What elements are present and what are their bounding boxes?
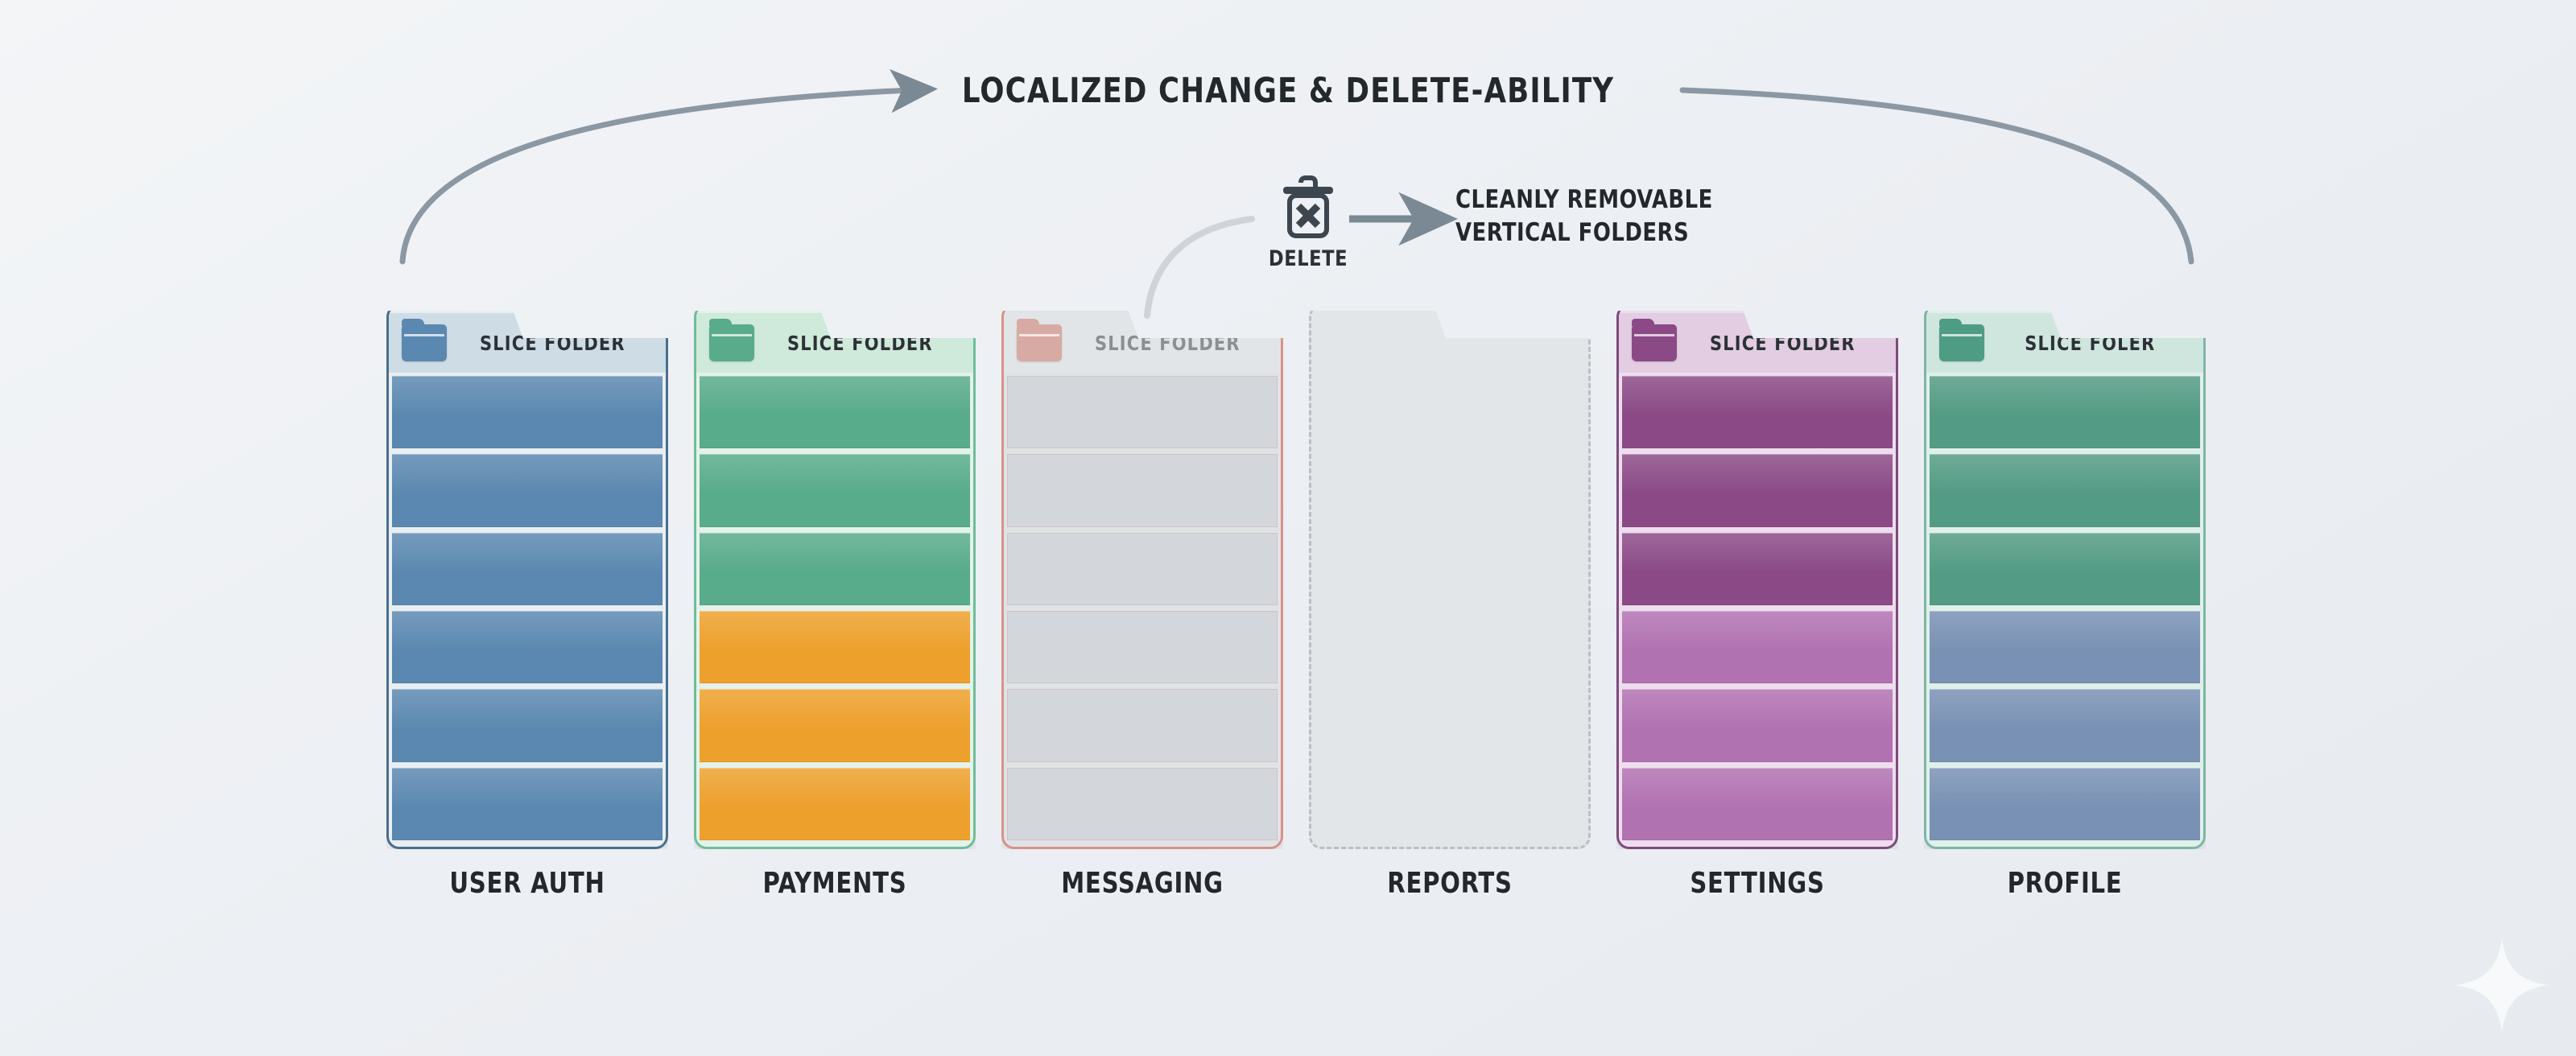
slice-folder-label: SLICE FOLDER [1685, 332, 1889, 355]
slice-row[interactable] [1622, 376, 1893, 448]
annotation-line-1: CLEANLY REMOVABLE [1455, 184, 1713, 217]
slice-row[interactable] [392, 454, 663, 526]
slice-folder-label: SLICE FOLER [1992, 332, 2196, 355]
slice-row[interactable] [392, 611, 663, 683]
slice-row[interactable] [1930, 768, 2200, 840]
slice-folder[interactable]: SLICE FOLDER [694, 304, 976, 849]
folder-icon [402, 324, 447, 361]
column-caption: PAYMENTS [708, 867, 962, 900]
right-arc [1682, 90, 2191, 262]
slice-row[interactable] [1007, 454, 1278, 526]
slice-row[interactable] [1622, 689, 1893, 761]
trash-x-icon[interactable] [1279, 174, 1337, 240]
folder-columns: SLICE FOLDERUSER AUTHSLICE FOLDERPAYMENT… [386, 304, 2206, 900]
slice-row[interactable] [1007, 768, 1278, 840]
folder-tab-header: SLICE FOLDER [696, 313, 973, 373]
delete-group[interactable]: DELETE [1252, 174, 1364, 271]
slice-row[interactable] [392, 689, 663, 761]
removable-annotation: CLEANLY REMOVABLE VERTICAL FOLDERS [1455, 184, 1713, 250]
folder-icon [1632, 324, 1677, 361]
empty-folder-placeholder[interactable] [1309, 304, 1591, 849]
slice-row[interactable] [700, 689, 970, 761]
slice-row[interactable] [1930, 533, 2200, 605]
slice-row[interactable] [1622, 454, 1893, 526]
diagram-canvas: LOCALIZED CHANGE & DELETE-ABILITY DELETE… [0, 0, 2576, 1056]
sparkle-icon [2449, 932, 2555, 1038]
folder-icon [1939, 324, 1984, 361]
folder-tab-header: SLICE FOLDER [1004, 313, 1281, 373]
slice-stack [1619, 373, 1896, 847]
slice-stack [1926, 373, 2203, 847]
slice-folder-label: SLICE FOLDER [455, 332, 658, 355]
slice-folder-label: SLICE FOLDER [762, 332, 966, 355]
slice-row[interactable] [1930, 454, 2200, 526]
slice-stack [696, 373, 973, 847]
slice-folder[interactable]: SLICE FOLDER [1616, 304, 1898, 849]
slice-row[interactable] [392, 376, 663, 448]
folder-icon [1017, 324, 1062, 361]
column-caption: SETTINGS [1631, 867, 1885, 900]
slice-row[interactable] [1930, 611, 2200, 683]
slice-row[interactable] [700, 454, 970, 526]
slice-row[interactable] [700, 611, 970, 683]
slice-row[interactable] [392, 768, 663, 840]
annotation-line-2: VERTICAL FOLDERS [1455, 217, 1713, 250]
slice-row[interactable] [700, 376, 970, 448]
column-caption: PROFILE [1938, 867, 2192, 900]
folder-tab-header: SLICE FOLDER [1619, 313, 1896, 373]
column-caption: USER AUTH [401, 867, 654, 900]
slice-row[interactable] [1622, 533, 1893, 605]
slice-row[interactable] [1007, 689, 1278, 761]
slice-row[interactable] [700, 768, 970, 840]
slice-stack [1004, 373, 1281, 847]
left-arc-arrow [402, 90, 910, 262]
slice-row[interactable] [1007, 376, 1278, 448]
slice-row[interactable] [1930, 376, 2200, 448]
slice-row[interactable] [1622, 768, 1893, 840]
column-caption: MESSAGING [1016, 867, 1269, 900]
folder-column-messaging[interactable]: SLICE FOLDERMESSAGING [1001, 304, 1283, 900]
slice-row[interactable] [700, 533, 970, 605]
folder-tab-header: SLICE FOLER [1926, 313, 2203, 373]
folder-column-profile[interactable]: SLICE FOLERPROFILE [1924, 304, 2206, 900]
delete-leader-curve [1147, 219, 1252, 316]
folder-column-payments[interactable]: SLICE FOLDERPAYMENTS [694, 304, 976, 900]
folder-column-user-auth[interactable]: SLICE FOLDERUSER AUTH [386, 304, 668, 900]
folder-icon [709, 324, 754, 361]
slice-folder[interactable]: SLICE FOLER [1924, 304, 2206, 849]
slice-row[interactable] [1930, 689, 2200, 761]
slice-folder[interactable]: SLICE FOLDER [1001, 304, 1283, 849]
slice-row[interactable] [1007, 611, 1278, 683]
page-title: LOCALIZED CHANGE & DELETE-ABILITY [103, 71, 2473, 111]
folder-column-settings[interactable]: SLICE FOLDERSETTINGS [1616, 304, 1898, 900]
slice-row[interactable] [1622, 611, 1893, 683]
slice-folder-label: SLICE FOLDER [1070, 332, 1274, 355]
folder-tab-header: SLICE FOLDER [389, 313, 666, 373]
slice-folder[interactable]: SLICE FOLDER [386, 304, 668, 849]
slice-row[interactable] [1007, 533, 1278, 605]
folder-column-reports[interactable]: REPORTS [1309, 304, 1591, 900]
slice-row[interactable] [392, 533, 663, 605]
delete-label: DELETE [1256, 246, 1360, 271]
column-caption: REPORTS [1323, 867, 1577, 900]
slice-stack [389, 373, 666, 847]
